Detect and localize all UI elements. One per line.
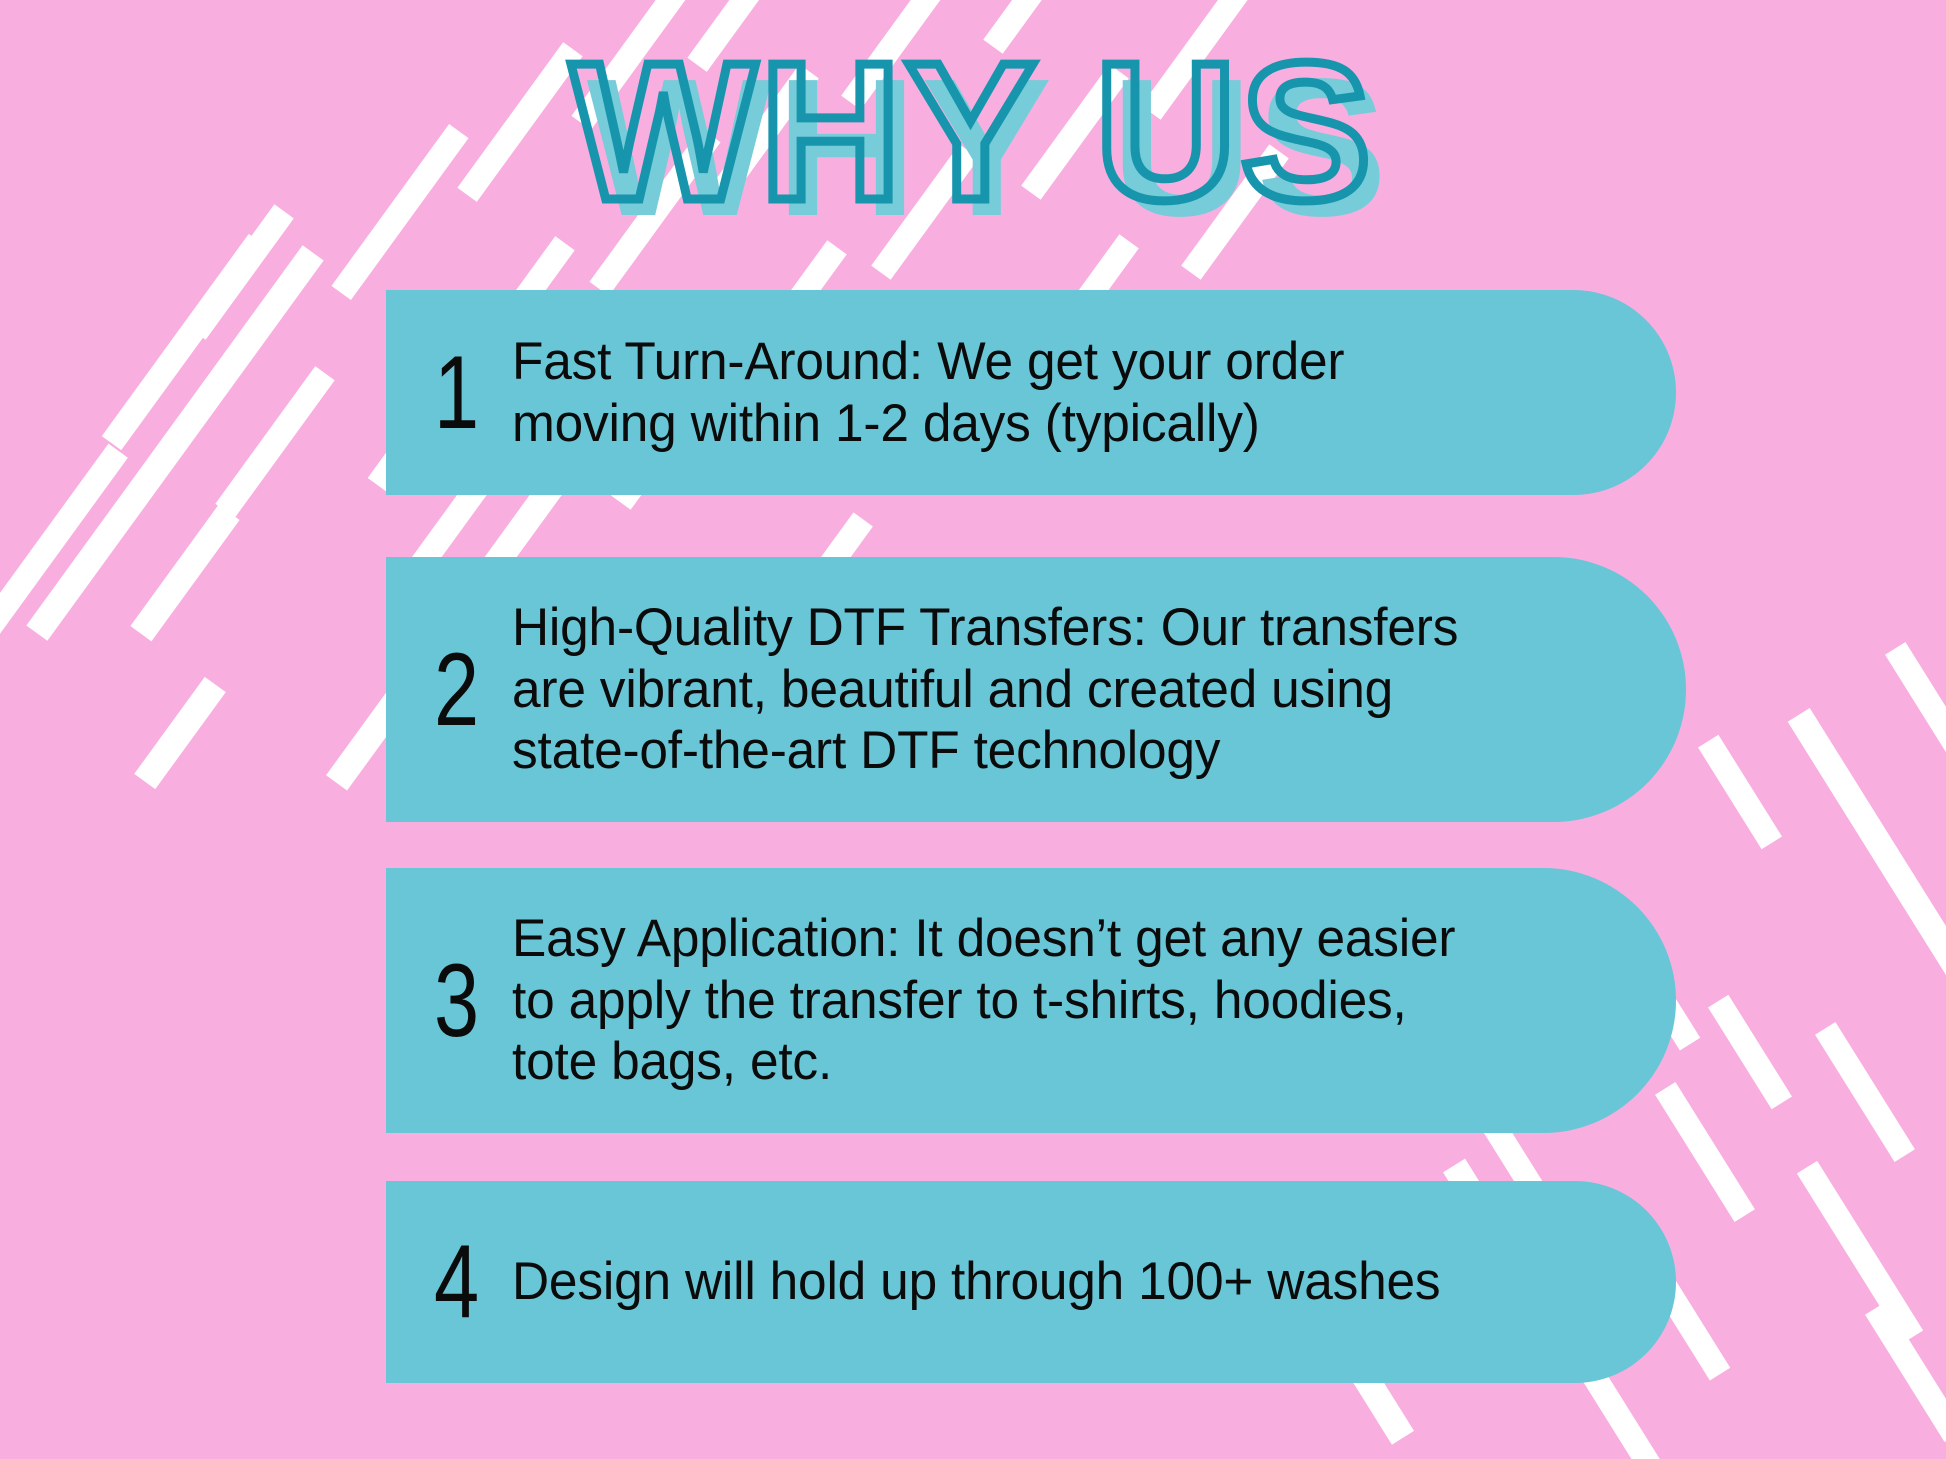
list-item: 1 Fast Turn-Around: We get your order mo… [386, 290, 1676, 495]
page-title: WHY US WHY US [0, 34, 1946, 244]
list-item-number: 3 [434, 949, 495, 1053]
list-item: 4 Design will hold up through 100+ washe… [386, 1181, 1676, 1383]
page-title-shadow: WHY US [587, 50, 1391, 246]
list-item: 3 Easy Application: It doesn’t get any e… [386, 868, 1676, 1133]
page-title-text: WHY US [571, 34, 1375, 230]
list-item-text: High-Quality DTF Transfers: Our transfer… [512, 597, 1505, 781]
list-item-number: 1 [434, 341, 495, 445]
list-item-number: 2 [434, 638, 495, 742]
poster-canvas: WHY US WHY US 1 Fast Turn-Around: We get… [0, 0, 1946, 1459]
list-item-number: 4 [434, 1230, 495, 1334]
list-item-text: Design will hold up through 100+ washes [512, 1251, 1496, 1312]
list-item: 2 High-Quality DTF Transfers: Our transf… [386, 557, 1686, 822]
benefits-list: 1 Fast Turn-Around: We get your order mo… [0, 290, 1946, 1383]
list-item-text: Easy Application: It doesn’t get any eas… [512, 908, 1496, 1092]
list-item-text: Fast Turn-Around: We get your order movi… [512, 331, 1496, 454]
